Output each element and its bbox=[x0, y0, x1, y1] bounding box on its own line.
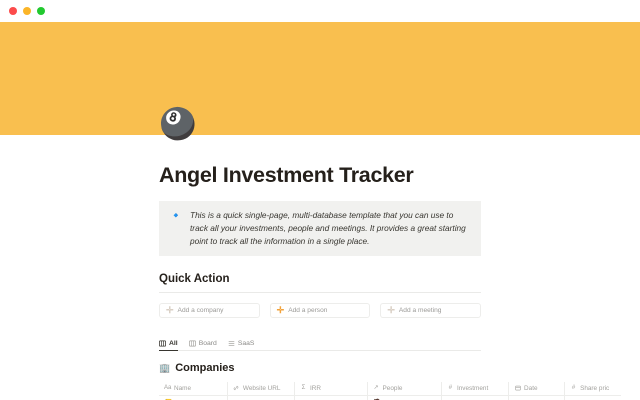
page-icon-8ball[interactable]: 🎱 bbox=[159, 108, 193, 142]
close-window-button[interactable] bbox=[9, 7, 17, 15]
section-divider bbox=[159, 292, 481, 293]
page-body: 🎱 Angel Investment Tracker 🔹 This is a q… bbox=[0, 135, 640, 400]
column-header-share-price[interactable]: # Share pric bbox=[565, 382, 621, 395]
cell-name[interactable]: 📒 Notion bbox=[159, 396, 228, 400]
tab-saas[interactable]: SaaS bbox=[228, 340, 255, 351]
flag-icon: 🔹 bbox=[169, 210, 182, 222]
page-cover-banner[interactable] bbox=[0, 22, 640, 135]
add-company-button[interactable]: ✛ Add a company bbox=[159, 303, 260, 318]
grid-icon bbox=[159, 340, 166, 347]
companies-table: Aa Name Website URL bbox=[159, 382, 621, 400]
tab-board-label: Board bbox=[199, 340, 217, 347]
add-person-button[interactable]: ✛ Add a person bbox=[270, 303, 371, 318]
cell-investment[interactable]: $50,000.00 bbox=[442, 396, 509, 400]
add-meeting-label: Add a meeting bbox=[399, 307, 442, 314]
formula-sigma-icon: Σ bbox=[300, 385, 307, 392]
cell-irr[interactable]: 84.2134140141% bbox=[295, 396, 368, 400]
tab-all[interactable]: All bbox=[159, 340, 178, 351]
cell-people[interactable]: 🧑 Ivan Zhao bbox=[368, 396, 442, 400]
callout-text: This is a quick single-page, multi-datab… bbox=[190, 209, 471, 248]
maximize-window-button[interactable] bbox=[37, 7, 45, 15]
column-header-date[interactable]: Date bbox=[509, 382, 565, 395]
database-title[interactable]: 🏢 Companies bbox=[159, 362, 481, 374]
table-header-row: Aa Name Website URL bbox=[159, 382, 621, 396]
app-window: 🎱 Angel Investment Tracker 🔹 This is a q… bbox=[0, 0, 640, 400]
cell-date[interactable]: June 1, 2013 bbox=[509, 396, 565, 400]
board-icon bbox=[189, 340, 196, 347]
column-header-people-label: People bbox=[383, 385, 403, 392]
window-titlebar bbox=[0, 0, 640, 22]
tab-board[interactable]: Board bbox=[189, 340, 217, 351]
column-header-investment-label: Investment bbox=[457, 385, 488, 392]
column-header-date-label: Date bbox=[524, 385, 538, 392]
callout-block: 🔹 This is a quick single-page, multi-dat… bbox=[159, 201, 481, 257]
column-header-website-url[interactable]: Website URL bbox=[228, 382, 295, 395]
text-aa-icon: Aa bbox=[164, 385, 171, 392]
plus-icon: ✛ bbox=[166, 306, 174, 315]
page-title: Angel Investment Tracker bbox=[159, 135, 481, 189]
page-content-column: 🎱 Angel Investment Tracker 🔹 This is a q… bbox=[159, 135, 481, 400]
add-meeting-button[interactable]: ✛ Add a meeting bbox=[380, 303, 481, 318]
column-header-people[interactable]: ↗ People bbox=[368, 382, 442, 395]
column-header-name[interactable]: Aa Name bbox=[159, 382, 228, 395]
number-hash-icon: # bbox=[447, 385, 454, 392]
office-building-icon: 🏢 bbox=[159, 363, 170, 373]
minimize-window-button[interactable] bbox=[23, 7, 31, 15]
relation-arrow-icon: ↗ bbox=[373, 385, 380, 392]
table-row[interactable]: 📒 Notion notion.so 84.2134140141% 🧑 Ivan… bbox=[159, 396, 621, 400]
cell-website-url[interactable]: notion.so bbox=[228, 396, 295, 400]
column-header-share-price-label: Share pric bbox=[580, 385, 609, 392]
column-header-irr[interactable]: Σ IRR bbox=[295, 382, 368, 395]
tab-all-label: All bbox=[169, 340, 178, 347]
plus-icon: ✛ bbox=[387, 306, 395, 315]
tab-saas-label: SaaS bbox=[238, 340, 255, 347]
database-view-tabs: All Board bbox=[159, 340, 481, 351]
plus-icon: ✛ bbox=[277, 306, 285, 315]
calendar-icon bbox=[514, 385, 521, 392]
list-icon bbox=[228, 340, 235, 347]
column-header-name-label: Name bbox=[174, 385, 191, 392]
cell-share-price[interactable] bbox=[565, 396, 621, 400]
column-header-website-url-label: Website URL bbox=[243, 385, 281, 392]
add-person-label: Add a person bbox=[288, 307, 327, 314]
quick-action-buttons: ✛ Add a company ✛ Add a person ✛ Add a m… bbox=[159, 303, 481, 318]
database-title-text: Companies bbox=[175, 362, 234, 374]
add-company-label: Add a company bbox=[178, 307, 224, 314]
column-header-investment[interactable]: # Investment bbox=[442, 382, 509, 395]
number-hash-icon: # bbox=[570, 385, 577, 392]
column-header-irr-label: IRR bbox=[310, 385, 321, 392]
link-icon bbox=[233, 385, 240, 392]
quick-action-heading: Quick Action bbox=[159, 273, 481, 285]
